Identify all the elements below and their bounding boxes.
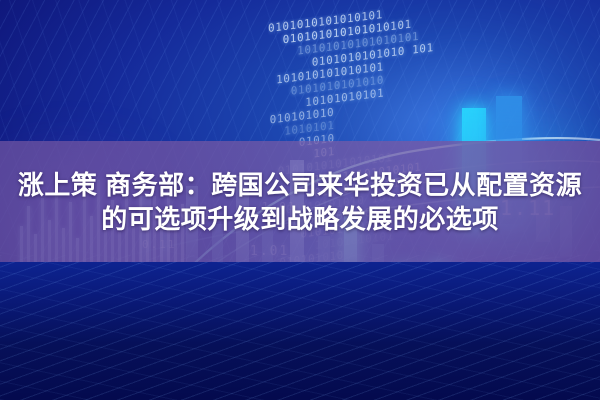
headline-line-1: 涨上策 商务部：跨国公司来华投资已从配置资源 — [18, 170, 582, 200]
lower-mesh-lines-alt — [0, 250, 600, 400]
headline-text-block: 涨上策 商务部：跨国公司来华投资已从配置资源 的可选项升级到战略发展的必选项 — [0, 141, 600, 262]
headline-line-2: 的可选项升级到战略发展的必选项 — [101, 204, 499, 234]
news-banner-image: 0101010101010101 010101010101010101 1010… — [0, 0, 600, 400]
